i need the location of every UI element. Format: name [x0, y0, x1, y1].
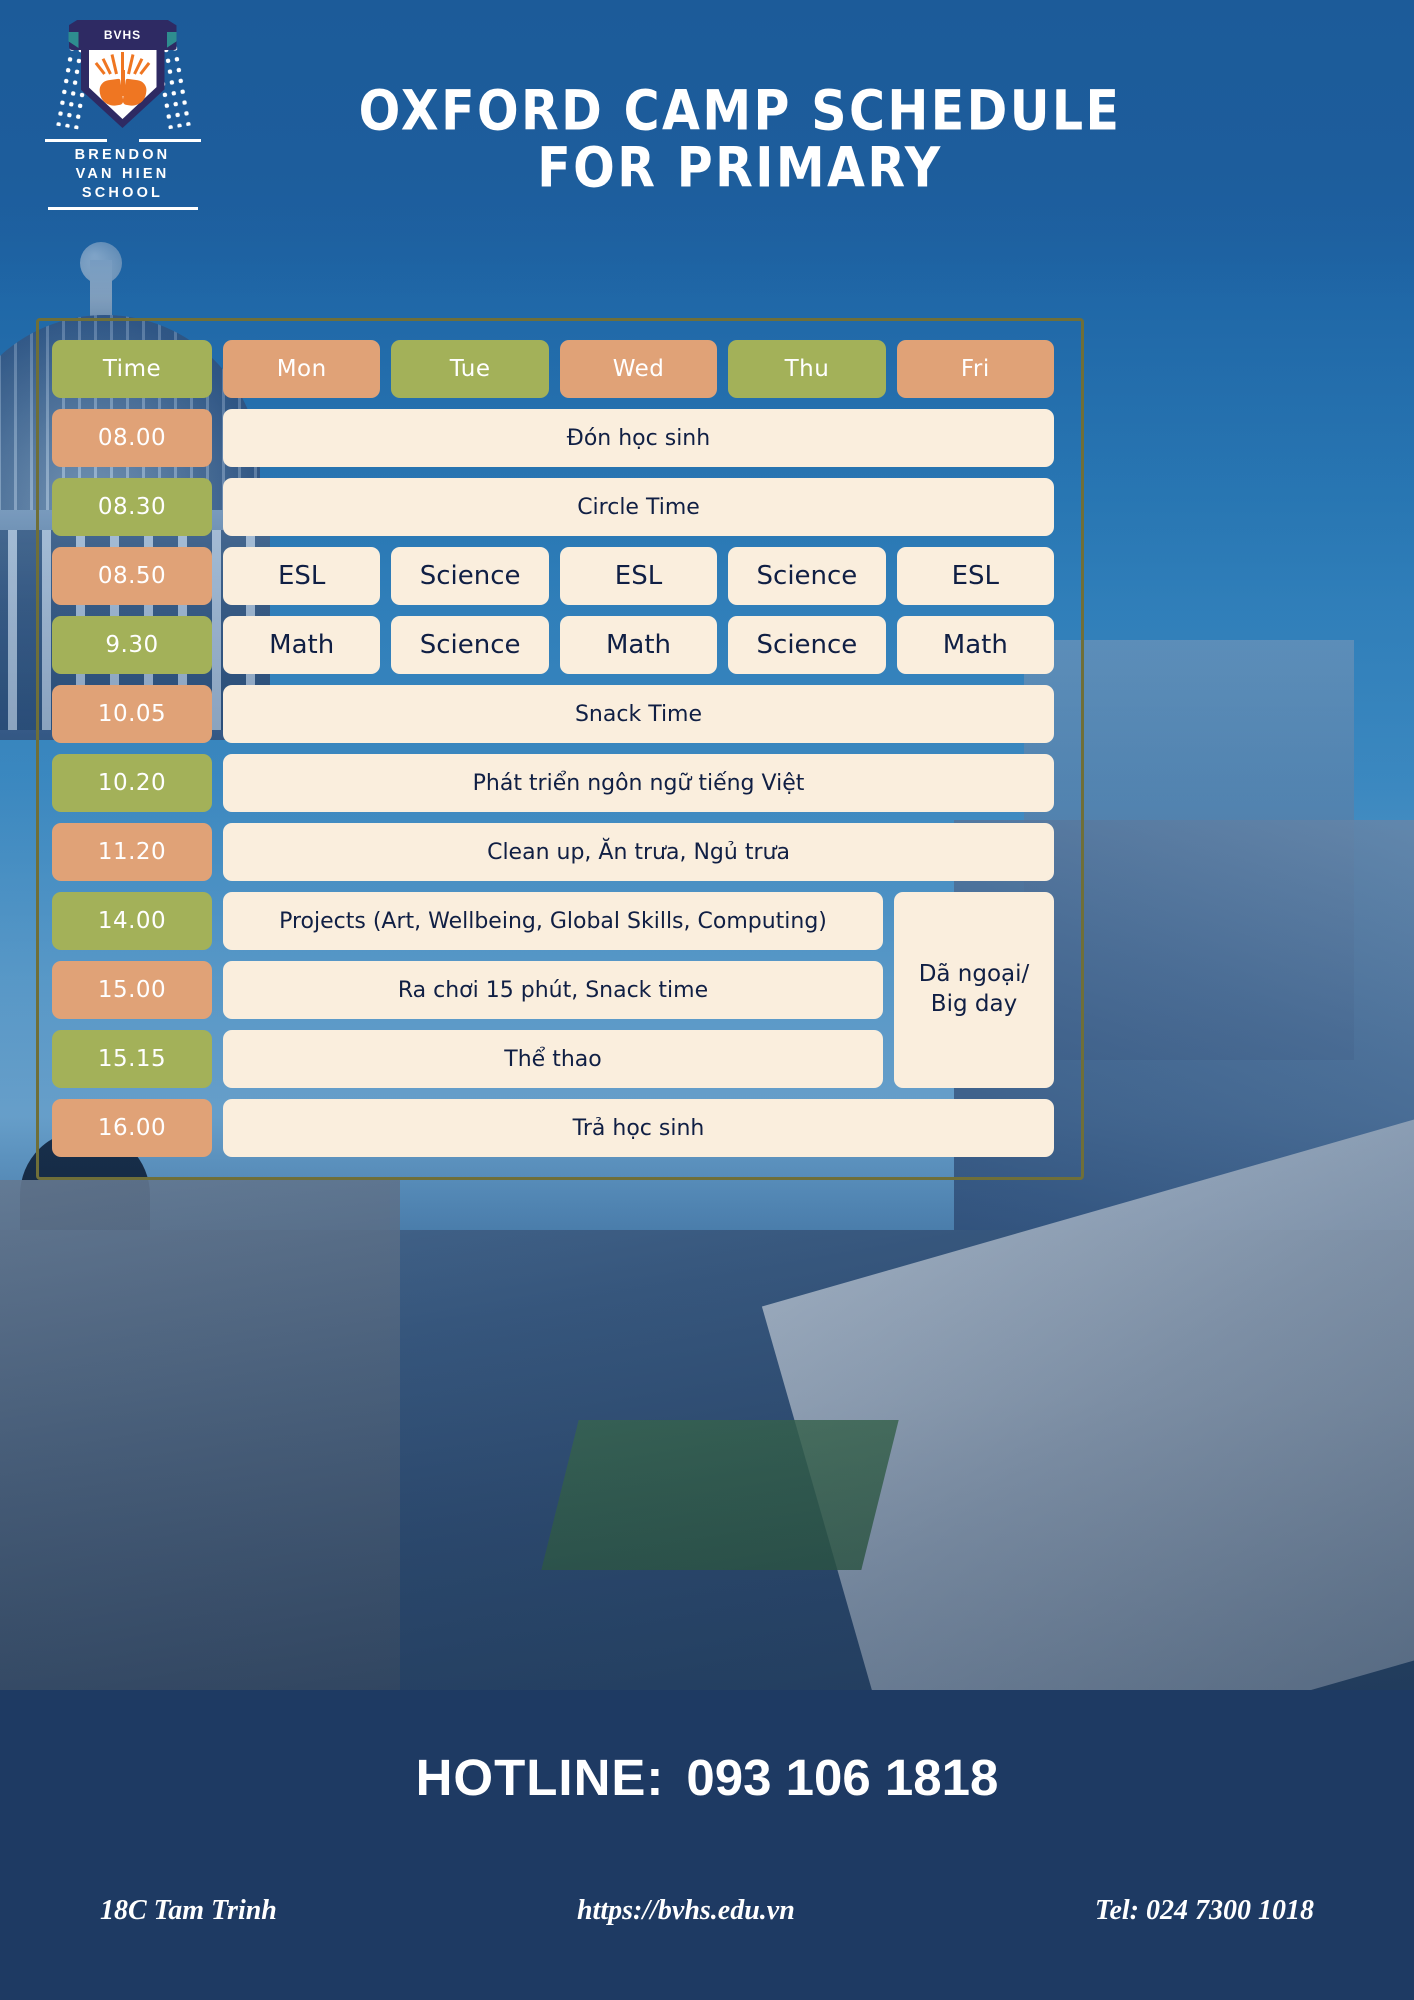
crest-abbreviation: BVHS [69, 28, 177, 42]
row-time: 08.30 [52, 478, 212, 536]
row-activity-wed: Math [560, 616, 717, 674]
footer-band: HOTLINE:093 106 1818 18C Tam Trinh https… [0, 1690, 1414, 2000]
table-row: 10.20 Phát triển ngôn ngữ tiếng Việt [52, 754, 1054, 812]
contact-address: 18C Tam Trinh [100, 1895, 277, 1927]
table-row: 10.05 Snack Time [52, 685, 1054, 743]
table-row: 16.00 Trả học sinh [52, 1099, 1054, 1157]
row-activity-all-days: Snack Time [223, 685, 1054, 743]
logo-divider-top [45, 139, 201, 142]
row-time: 08.50 [52, 547, 212, 605]
table-header-row: Time Mon Tue Wed Thu Fri [52, 340, 1054, 398]
hands-icon [100, 80, 146, 106]
row-time: 16.00 [52, 1099, 212, 1157]
hotline-block: HOTLINE:093 106 1818 [0, 1748, 1414, 1807]
row-activity-tue: Science [391, 547, 548, 605]
schedule-table: Time Mon Tue Wed Thu Fri 08.00 Đón học s… [52, 340, 1054, 1168]
row-activity-all-days: Đón học sinh [223, 409, 1054, 467]
row-time: 10.20 [52, 754, 212, 812]
school-name-line-3: SCHOOL [40, 184, 205, 203]
page-title-line-1: OXFORD CAMP SCHEDULE [240, 80, 1240, 144]
afternoon-time-column: 14.00 15.00 15.15 [52, 892, 212, 1088]
row-activity-all-days: Phát triển ngôn ngữ tiếng Việt [223, 754, 1054, 812]
row-activity-mon-thu: Thể thao [223, 1030, 883, 1088]
page-title: OXFORD CAMP SCHEDULE FOR PRIMARY [240, 80, 1240, 194]
school-logo: BVHS BRENDON VAN HIEN SCHOOL [40, 14, 205, 199]
hand-right [122, 79, 147, 108]
friday-big-day-cell: Dã ngoại/ Big day [894, 892, 1054, 1088]
row-activity-thu: Science [728, 616, 885, 674]
row-time: 11.20 [52, 823, 212, 881]
hotline-label: HOTLINE: [416, 1749, 665, 1806]
hand-left [98, 79, 123, 108]
header-day-mon: Mon [223, 340, 380, 398]
row-activity-tue: Science [391, 616, 548, 674]
header-day-thu: Thu [728, 340, 885, 398]
contact-tel: Tel: 024 7300 1018 [1095, 1895, 1314, 1927]
row-time: 15.15 [52, 1030, 212, 1088]
header-day-tue: Tue [391, 340, 548, 398]
table-row: 9.30 Math Science Math Science Math [52, 616, 1054, 674]
logo-divider-bottom [48, 207, 198, 210]
school-name-line-1: BRENDON [40, 146, 205, 165]
afternoon-activity-column: Projects (Art, Wellbeing, Global Skills,… [223, 892, 883, 1088]
shield-crest-icon: BVHS [65, 14, 181, 134]
header-day-fri: Fri [897, 340, 1054, 398]
contact-website[interactable]: https://bvhs.edu.vn [577, 1895, 795, 1927]
header-time: Time [52, 340, 212, 398]
table-row: 08.30 Circle Time [52, 478, 1054, 536]
row-time: 9.30 [52, 616, 212, 674]
header-day-wed: Wed [560, 340, 717, 398]
row-activity-mon-thu: Projects (Art, Wellbeing, Global Skills,… [223, 892, 883, 950]
table-row: 11.20 Clean up, Ăn trưa, Ngủ trưa [52, 823, 1054, 881]
row-activity-all-days: Circle Time [223, 478, 1054, 536]
crest-ribbon: BVHS [69, 20, 177, 50]
row-time: 10.05 [52, 685, 212, 743]
row-activity-thu: Science [728, 547, 885, 605]
page-title-line-2: FOR PRIMARY [240, 137, 1240, 201]
big-day-line-2: Big day [919, 990, 1030, 1020]
row-activity-mon-thu: Ra chơi 15 phút, Snack time [223, 961, 883, 1019]
row-time: 15.00 [52, 961, 212, 1019]
big-day-line-1: Dã ngoại/ [919, 960, 1030, 990]
row-activity-fri: ESL [897, 547, 1054, 605]
row-activity-wed: ESL [560, 547, 717, 605]
table-row: 08.00 Đón học sinh [52, 409, 1054, 467]
hotline-number: 093 106 1818 [686, 1749, 998, 1806]
row-activity-all-days: Clean up, Ăn trưa, Ngủ trưa [223, 823, 1054, 881]
row-activity-fri: Math [897, 616, 1054, 674]
afternoon-block: 14.00 15.00 15.15 Projects (Art, Wellbei… [52, 892, 1054, 1088]
contact-row: 18C Tam Trinh https://bvhs.edu.vn Tel: 0… [0, 1895, 1414, 1927]
school-name: BRENDON VAN HIEN SCHOOL [40, 146, 205, 203]
row-activity-mon: ESL [223, 547, 380, 605]
row-activity-all-days: Trả học sinh [223, 1099, 1054, 1157]
row-time: 14.00 [52, 892, 212, 950]
school-name-line-2: VAN HIEN [40, 165, 205, 184]
row-activity-mon: Math [223, 616, 380, 674]
row-time: 08.00 [52, 409, 212, 467]
table-row: 08.50 ESL Science ESL Science ESL [52, 547, 1054, 605]
